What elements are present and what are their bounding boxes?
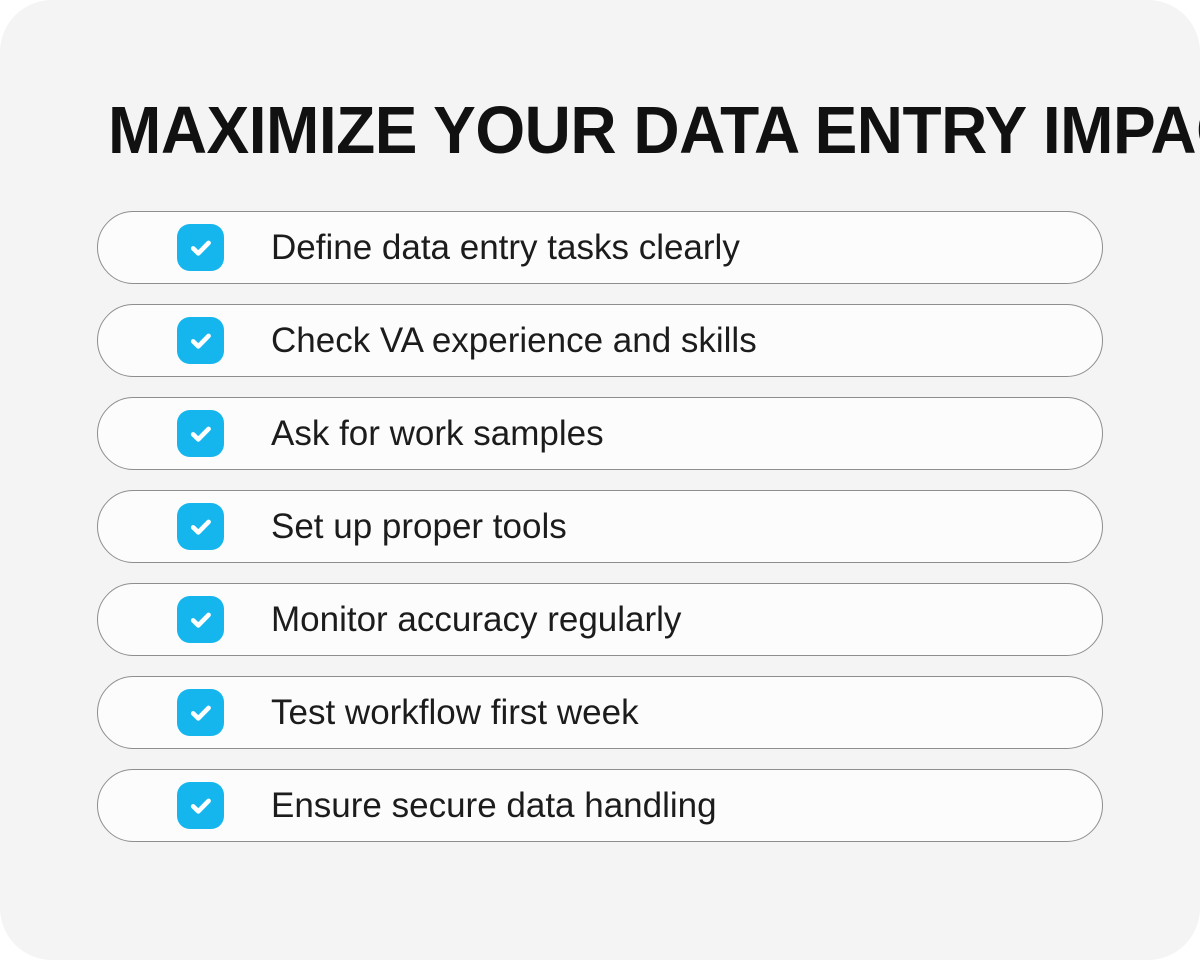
check-icon[interactable] [177, 317, 224, 364]
check-icon[interactable] [177, 782, 224, 829]
check-icon[interactable] [177, 224, 224, 271]
list-item-label: Define data entry tasks clearly [271, 228, 1102, 268]
list-item-label: Set up proper tools [271, 507, 1102, 547]
list-item[interactable]: Test workflow first week [97, 676, 1103, 749]
checklist-card: MAXIMIZE YOUR DATA ENTRY IMPACT Define d… [0, 0, 1200, 960]
check-icon[interactable] [177, 596, 224, 643]
page-title: MAXIMIZE YOUR DATA ENTRY IMPACT [108, 96, 1063, 166]
check-icon[interactable] [177, 503, 224, 550]
list-item-label: Ensure secure data handling [271, 786, 1102, 826]
list-item-label: Monitor accuracy regularly [271, 600, 1102, 640]
list-item[interactable]: Set up proper tools [97, 490, 1103, 563]
list-item[interactable]: Ensure secure data handling [97, 769, 1103, 842]
list-item[interactable]: Check VA experience and skills [97, 304, 1103, 377]
check-icon[interactable] [177, 689, 224, 736]
list-item-label: Test workflow first week [271, 693, 1102, 733]
list-item[interactable]: Define data entry tasks clearly [97, 211, 1103, 284]
checklist: Define data entry tasks clearly Check VA… [97, 211, 1103, 842]
list-item[interactable]: Monitor accuracy regularly [97, 583, 1103, 656]
list-item[interactable]: Ask for work samples [97, 397, 1103, 470]
list-item-label: Ask for work samples [271, 414, 1102, 454]
check-icon[interactable] [177, 410, 224, 457]
list-item-label: Check VA experience and skills [271, 321, 1102, 361]
